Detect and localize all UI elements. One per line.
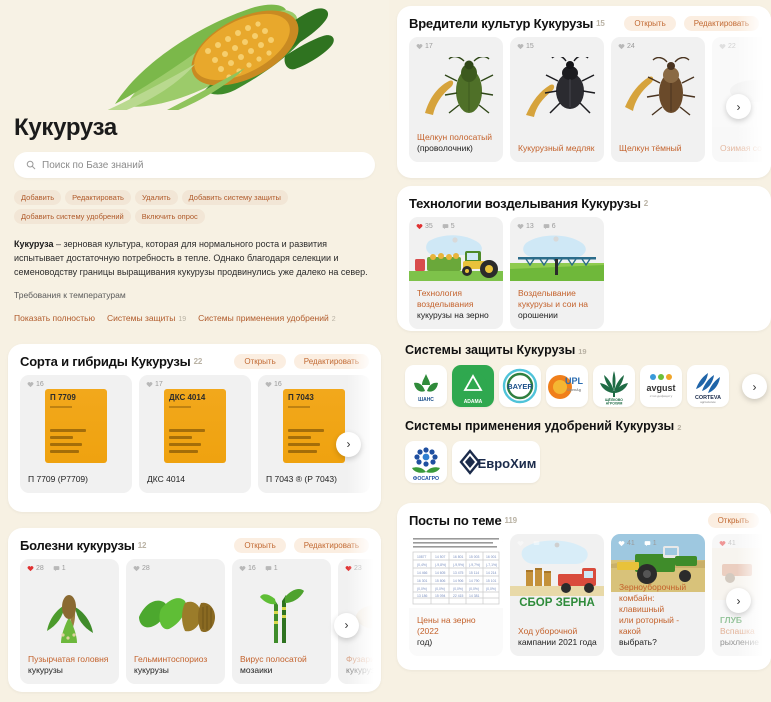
svg-text:15 806: 15 806 (435, 579, 445, 583)
svg-text:(0,4%): (0,4%) (417, 563, 427, 567)
svg-text:16 301: 16 301 (417, 579, 427, 583)
variety-caption: П 7043 ® (Р 7043) (266, 474, 364, 485)
svg-text:ЕвроХим: ЕвроХим (478, 456, 537, 471)
technology-card[interactable]: 35 5 (409, 217, 503, 329)
right-column: Вредители культур Кукурузы15 Открыть Ред… (397, 0, 771, 702)
heart-icon (719, 540, 726, 547)
diseases-card-list[interactable]: 28 1 Пузырчатая головня кукурузы (8, 559, 381, 692)
card-meta: 24 (618, 43, 635, 50)
enable-poll-button[interactable]: Включить опрос (135, 209, 205, 224)
like-count: 17 (146, 381, 163, 388)
variety-packet-art: П 7709 (45, 389, 107, 463)
disease-caption: Вирус полосатой мозаики (240, 654, 325, 676)
logo-shans[interactable]: ШАНС (405, 365, 447, 407)
svg-text:13 475: 13 475 (453, 571, 463, 575)
hero-image (0, 0, 389, 110)
heart-icon (416, 223, 423, 230)
avgust-logo-icon: avgust стоп дефициту (641, 369, 681, 403)
heart-icon (416, 43, 423, 50)
svg-text:(-9,7%): (-9,7%) (469, 563, 480, 567)
svg-text:10877: 10877 (417, 555, 427, 559)
protection-next-arrow[interactable]: › (742, 374, 767, 399)
like-count: 23 (345, 565, 362, 572)
heart-icon (265, 381, 272, 388)
variety-packet-name: П 7709 (45, 389, 107, 402)
posts-card-list[interactable]: 1087714 50716 80115 00316 001 (0,4%)(-9,… (397, 534, 771, 666)
technology-card[interactable]: 13 6 (510, 217, 604, 329)
upl-logo-icon: UPL OpenAg (547, 368, 587, 404)
svg-text:15 003: 15 003 (469, 555, 479, 559)
svg-text:15 094: 15 094 (435, 594, 445, 598)
varieties-title: Сорта и гибриды Кукурузы22 (20, 354, 202, 369)
card-meta: 28 1 (27, 565, 66, 572)
svg-text:15 101: 15 101 (486, 579, 496, 583)
corn-cob-icon (55, 0, 345, 110)
svg-text:16 801: 16 801 (453, 555, 463, 559)
like-count (517, 540, 524, 547)
search-icon (26, 160, 36, 170)
phosagro-logo-icon: ФОСАГРО (406, 442, 446, 482)
svg-text:(-9,9%): (-9,9%) (453, 563, 464, 567)
posts-header-buttons: Открыть (708, 513, 759, 528)
posts-next-arrow[interactable]: › (726, 588, 751, 613)
show-full-link[interactable]: Показать полностью (14, 313, 95, 323)
svg-text:СБОР ЗЕРНА: СБОР ЗЕРНА (519, 597, 595, 609)
card-meta: 17 (146, 381, 163, 388)
variety-packet-art: ДКС 4014 (164, 389, 226, 463)
diseases-header-buttons: Открыть Редактировать (234, 538, 369, 553)
action-buttons-row: Добавить Редактировать Удалить Добавить … (0, 178, 389, 224)
card-meta: 23 (345, 565, 362, 572)
card-meta: 13 6 (517, 223, 556, 230)
variety-packet-name: П 7043 (283, 389, 345, 402)
logo-avgust[interactable]: avgust стоп дефициту (640, 365, 682, 407)
diseases-count: 12 (138, 541, 147, 550)
like-count: 28 (133, 565, 150, 572)
technology-caption: Технология возделывания кукурузы на зерн… (417, 288, 497, 321)
pests-card-list[interactable]: 17 (397, 37, 771, 172)
post-caption: Цены на зерно (2022 год) (417, 615, 497, 648)
add-button[interactable]: Добавить (14, 190, 61, 205)
svg-text:(0,0%): (0,0%) (453, 587, 463, 591)
pests-open-button[interactable]: Открыть (624, 16, 675, 31)
comment-icon (533, 540, 540, 547)
varieties-header-buttons: Открыть Редактировать (234, 354, 369, 369)
protection-systems-count: 19 (178, 316, 186, 323)
svg-text:(0,0%): (0,0%) (435, 587, 445, 591)
fertilizer-count: 2 (677, 423, 681, 432)
pests-next-arrow[interactable]: › (726, 94, 751, 119)
heart-icon (345, 565, 352, 572)
like-count: 28 (27, 565, 44, 572)
disease-card[interactable]: 28 Гельминтоспориоз кукурузы (126, 559, 225, 684)
logo-upl[interactable]: UPL OpenAg (546, 365, 588, 407)
card-meta: 16 (265, 381, 282, 388)
comment-count: 5 (442, 223, 455, 230)
svg-text:14 605: 14 605 (435, 571, 445, 575)
heart-icon (133, 565, 140, 572)
pest-card[interactable]: 15 (510, 37, 604, 162)
temperature-requirements-label: Требования к температурам (0, 280, 389, 300)
technologies-card-list[interactable]: 35 5 (397, 217, 771, 331)
svg-text:(0,0%): (0,0%) (469, 587, 479, 591)
logo-bayer[interactable]: BAYER (499, 365, 541, 407)
logo-eurochem[interactable]: ЕвроХим (452, 441, 540, 483)
logo-corteva[interactable]: CORTEVA agriscience (687, 365, 729, 407)
like-count: 41 (719, 540, 736, 547)
shchelkovo-logo-icon: ЩЁЛКОВО АГРОХИМ (595, 367, 633, 405)
corteva-logo-icon: CORTEVA agriscience (688, 367, 728, 405)
varieties-card-list[interactable]: 16 П 7709 П 7709 (Р7709) 17 (8, 375, 381, 503)
pest-caption: Щелкун полосатый (проволочник) (417, 132, 497, 154)
card-meta: 22 (719, 43, 736, 50)
search-placeholder: Поиск по Базе знаний (42, 160, 143, 171)
svg-text:14 507: 14 507 (435, 555, 445, 559)
like-count: 16 (265, 381, 282, 388)
post-caption: Ход уборочной кампании 2021 года (518, 626, 598, 648)
like-count: 13 (517, 223, 534, 230)
heart-icon (517, 223, 524, 230)
varieties-header: Сорта и гибриды Кукурузы22 Открыть Редак… (8, 344, 381, 375)
svg-text:16 001: 16 001 (486, 555, 496, 559)
post-card[interactable]: СБОР ЗЕРНА Ход уборочной кампании 2021 г… (510, 534, 604, 656)
technologies-panel: Технологии возделывания Кукурузы2 35 5 (397, 186, 771, 331)
svg-text:22 415: 22 415 (453, 594, 463, 598)
heart-icon (517, 43, 524, 50)
fertilizer-systems-title: Системы применения удобрений Кукурузы2 (405, 419, 771, 433)
description-text: Кукуруза – зерновая культура, которая дл… (0, 224, 389, 280)
technologies-header: Технологии возделывания Кукурузы2 (397, 186, 771, 217)
card-meta: 17 (416, 43, 433, 50)
svg-text:АГРОХИМ: АГРОХИМ (606, 401, 623, 405)
comment-icon (644, 540, 651, 547)
card-meta: 41 1 (618, 540, 657, 547)
irrigation-illustration-icon (510, 233, 604, 281)
comment-count: 1 (265, 565, 278, 572)
card-meta: 15 (517, 43, 534, 50)
helminthosporiosis-icon (135, 589, 219, 641)
comment-icon (442, 223, 449, 230)
post-caption: Зерноуборочный комбайн: клавишный или ро… (619, 582, 699, 648)
varieties-next-arrow[interactable]: › (336, 432, 361, 457)
varieties-count: 22 (194, 357, 203, 366)
dark-click-beetle-icon (621, 57, 697, 119)
inline-links: Показать полностью Системы защиты19 Сист… (0, 300, 389, 326)
varieties-open-button[interactable]: Открыть (234, 354, 285, 369)
heart-icon (146, 381, 153, 388)
heart-icon (618, 540, 625, 547)
disease-card[interactable]: 16 1 Вирус полосатой мозаики (232, 559, 331, 684)
variety-card[interactable]: 16 П 7709 П 7709 (Р7709) (20, 375, 132, 493)
like-count: 22 (719, 43, 736, 50)
card-meta: 41 (719, 540, 736, 547)
diseases-title: Болезни кукурузы12 (20, 538, 146, 553)
diseases-panel: Болезни кукурузы12 Открыть Редактировать… (8, 528, 381, 692)
varieties-edit-button[interactable]: Редактировать (294, 354, 369, 369)
search-wrapper: Поиск по Базе знаний (0, 142, 389, 178)
technology-caption: Возделывание кукурузы и сои на орошении (518, 288, 598, 321)
tractor-illustration-icon (409, 233, 503, 281)
post-card[interactable]: 1087714 50716 80115 00316 001 (0,4%)(-9,… (409, 534, 503, 656)
svg-text:(0,0%): (0,0%) (486, 587, 496, 591)
variety-packet-art: П 7043 (283, 389, 345, 463)
like-count: 41 (618, 540, 635, 547)
comment-count: 6 (543, 223, 556, 230)
delete-button[interactable]: Удалить (135, 190, 178, 205)
description-body: – зерновая культура, которая для нормаль… (14, 239, 368, 277)
svg-text:ШАНС: ШАНС (418, 397, 434, 403)
left-column: Кукуруза Поиск по Базе знаний Добавить Р… (0, 0, 389, 702)
post-caption: ГЛУБ Вспашка рыхление (720, 615, 771, 648)
variety-card[interactable]: 17 ДКС 4014 ДКС 4014 (139, 375, 251, 493)
pests-edit-button[interactable]: Редактировать (684, 16, 759, 31)
comment-icon (543, 223, 550, 230)
comment-count: 1 (53, 565, 66, 572)
add-fertilizer-system-button[interactable]: Добавить систему удобрений (14, 209, 131, 224)
diseases-next-arrow[interactable]: › (334, 613, 359, 638)
svg-text:14 466: 14 466 (417, 571, 427, 575)
shans-logo-icon: ШАНС (409, 369, 443, 403)
disease-caption: Пузырчатая головня кукурузы (28, 654, 113, 676)
disease-caption: Гельминтоспориоз кукурузы (134, 654, 219, 676)
svg-text:15 114: 15 114 (469, 571, 479, 575)
heart-icon (618, 43, 625, 50)
pest-caption: Озимая со (720, 143, 771, 154)
svg-text:14 214: 14 214 (486, 571, 496, 575)
diseases-header: Болезни кукурузы12 Открыть Редактировать (8, 528, 381, 559)
heart-icon (27, 381, 34, 388)
svg-text:agriscience: agriscience (700, 400, 716, 404)
protection-logos-row[interactable]: ШАНС ADAMA BAYER (397, 365, 771, 407)
protection-systems-title: Системы защиты Кукурузы19 (405, 343, 771, 357)
heart-icon (719, 43, 726, 50)
pest-card[interactable]: 24 (611, 37, 705, 162)
pests-header: Вредители культур Кукурузы15 Открыть Ред… (397, 6, 771, 37)
diseases-open-button[interactable]: Открыть (234, 538, 285, 553)
heart-icon (517, 540, 524, 547)
click-beetle-icon (419, 57, 495, 119)
bayer-logo-icon: BAYER (501, 367, 539, 405)
variety-card[interactable]: 4 П 8834 П 8834 (Р8 (377, 375, 381, 493)
edit-button[interactable]: Редактировать (65, 190, 131, 205)
pests-count: 15 (596, 19, 605, 28)
grain-prices-table-icon: 1087714 50716 80115 00316 001 (0,4%)(-9,… (409, 534, 503, 608)
grain-harvest-illustration-icon: СБОР ЗЕРНА (510, 536, 604, 614)
posts-open-button[interactable]: Открыть (708, 513, 759, 528)
svg-text:BAYER: BAYER (507, 382, 533, 391)
pests-title: Вредители культур Кукурузы15 (409, 16, 605, 31)
smut-disease-icon (35, 587, 105, 643)
technologies-title: Технологии возделывания Кукурузы2 (409, 196, 648, 211)
mosaic-virus-icon (252, 585, 312, 643)
darkling-beetle-icon (520, 57, 596, 119)
card-meta (517, 540, 540, 547)
adama-logo-icon: ADAMA (453, 366, 493, 406)
variety-caption: П 7709 (Р7709) (28, 474, 126, 485)
posts-panel: Посты по теме119 Открыть (397, 503, 771, 670)
comment-icon (265, 565, 272, 572)
variety-packet-name: ДКС 4014 (164, 389, 226, 402)
fusarium-icon (352, 591, 381, 641)
protection-systems-link[interactable]: Системы защиты19 (107, 308, 186, 326)
like-count: 15 (517, 43, 534, 50)
like-count: 16 (239, 565, 256, 572)
svg-text:ФОСАГРО: ФОСАГРО (413, 476, 439, 482)
heart-icon (239, 565, 246, 572)
post-card[interactable]: 41 1 (611, 534, 705, 656)
diseases-edit-button[interactable]: Редактировать (294, 538, 369, 553)
card-meta: 35 5 (416, 223, 455, 230)
fertilizer-systems-link[interactable]: Системы применения удобрений2 (198, 308, 336, 326)
logo-shchelkovo-agrohim[interactable]: ЩЁЛКОВО АГРОХИМ (593, 365, 635, 407)
variety-caption: ДКС 4014 (147, 474, 245, 485)
fertilizer-systems-count: 2 (332, 316, 336, 323)
svg-text:стоп дефициту: стоп дефициту (650, 394, 673, 398)
svg-text:13 186: 13 186 (417, 594, 427, 598)
search-input[interactable]: Поиск по Базе знаний (14, 152, 375, 178)
svg-text:14 381: 14 381 (469, 594, 479, 598)
svg-text:(0,0%): (0,0%) (417, 587, 427, 591)
card-meta: 28 (133, 565, 150, 572)
fertilizer-logos-row[interactable]: ФОСАГРО ЕвроХим (397, 441, 771, 483)
posts-title: Посты по теме119 (409, 513, 517, 528)
card-meta: 16 (27, 381, 44, 388)
pest-caption: Щелкун тёмный (619, 143, 699, 154)
add-protection-system-button[interactable]: Добавить систему защиты (182, 190, 288, 205)
posts-header: Посты по теме119 Открыть (397, 503, 771, 534)
page-title-block: Кукуруза (0, 110, 389, 142)
like-count: 16 (27, 381, 44, 388)
svg-text:14 906: 14 906 (453, 579, 463, 583)
svg-text:(-7,1%): (-7,1%) (486, 563, 497, 567)
protection-count: 19 (578, 347, 586, 356)
technologies-count: 2 (644, 199, 648, 208)
card-meta: 16 1 (239, 565, 278, 572)
comment-count (533, 540, 540, 547)
logo-adama[interactable]: ADAMA (452, 365, 494, 407)
logo-phosagro[interactable]: ФОСАГРО (405, 441, 447, 483)
comment-icon (53, 565, 60, 572)
svg-text:14 790: 14 790 (469, 579, 479, 583)
heart-icon (27, 565, 34, 572)
eurochem-logo-icon: ЕвроХим (455, 447, 537, 477)
pest-caption: Кукурузный медляк (518, 143, 598, 154)
pests-panel: Вредители культур Кукурузы15 Открыть Ред… (397, 6, 771, 178)
svg-text:(-9,8%): (-9,8%) (435, 563, 446, 567)
page-title: Кукуруза (14, 114, 375, 142)
comment-count: 1 (644, 540, 657, 547)
pests-header-buttons: Открыть Редактировать (624, 16, 759, 31)
disease-card[interactable]: 28 1 Пузырчатая головня кукурузы (20, 559, 119, 684)
like-count: 35 (416, 223, 433, 230)
pest-card[interactable]: 17 (409, 37, 503, 162)
description-lead: Кукуруза (14, 239, 54, 249)
posts-count: 119 (505, 516, 517, 525)
svg-text:ADAMA: ADAMA (464, 399, 483, 405)
disease-caption: Фузариоз кукурузы (346, 654, 381, 676)
svg-text:avgust: avgust (646, 383, 675, 393)
svg-text:OpenAg: OpenAg (567, 388, 581, 392)
like-count: 24 (618, 43, 635, 50)
varieties-panel: Сорта и гибриды Кукурузы22 Открыть Редак… (8, 344, 381, 512)
page-root: Кукуруза Поиск по Базе знаний Добавить Р… (0, 0, 771, 702)
like-count: 17 (416, 43, 433, 50)
svg-text:UPL: UPL (565, 376, 584, 386)
